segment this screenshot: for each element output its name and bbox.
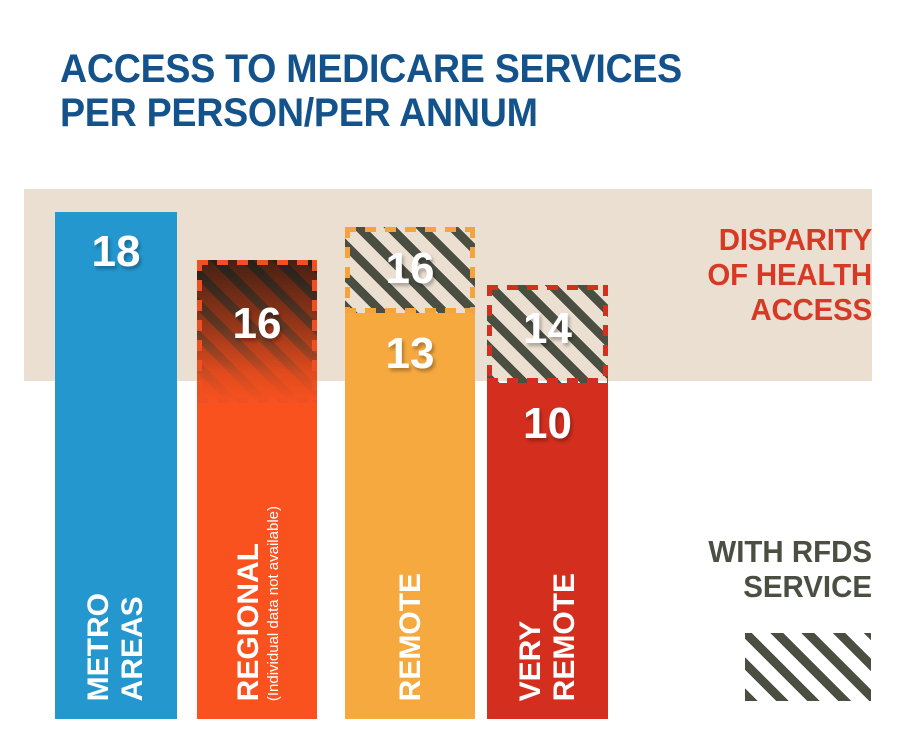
infographic-canvas: ACCESS TO MEDICARE SERVICES PER PERSON/P… xyxy=(0,0,900,742)
bar-very-remote[interactable]: 14 10 VERY REMOTE xyxy=(487,285,608,719)
bar-remote-rfds-value: 16 xyxy=(345,247,475,291)
bar-metro-areas[interactable]: 18 METRO AREAS xyxy=(55,212,177,719)
bar-remote[interactable]: 16 13 REMOTE xyxy=(345,227,475,719)
bar-regional-sublabel: (Individual data not available) xyxy=(266,506,282,701)
bar-regional-value: 16 xyxy=(197,302,317,346)
page-title: ACCESS TO MEDICARE SERVICES PER PERSON/P… xyxy=(60,47,812,135)
bar-metro-areas-label-wrap: METRO AREAS xyxy=(55,501,177,701)
bar-metro-areas-value: 18 xyxy=(55,230,177,274)
bar-regional-label: REGIONAL xyxy=(232,543,265,701)
legend-hatch-swatch xyxy=(745,633,871,701)
legend-label: WITH RFDS SERVICE xyxy=(530,534,872,604)
bar-remote-label-wrap: REMOTE xyxy=(345,501,475,701)
bar-remote-value: 13 xyxy=(345,332,475,376)
bar-metro-areas-label: METRO AREAS xyxy=(82,593,150,701)
bar-remote-label: REMOTE xyxy=(394,573,427,701)
bar-very-remote-rfds-value: 14 xyxy=(487,307,608,351)
bar-regional[interactable]: 16 REGIONAL (Individual data not availab… xyxy=(197,260,317,719)
bar-very-remote-value: 10 xyxy=(487,402,608,446)
bar-regional-label-wrap: REGIONAL (Individual data not available) xyxy=(197,501,317,701)
